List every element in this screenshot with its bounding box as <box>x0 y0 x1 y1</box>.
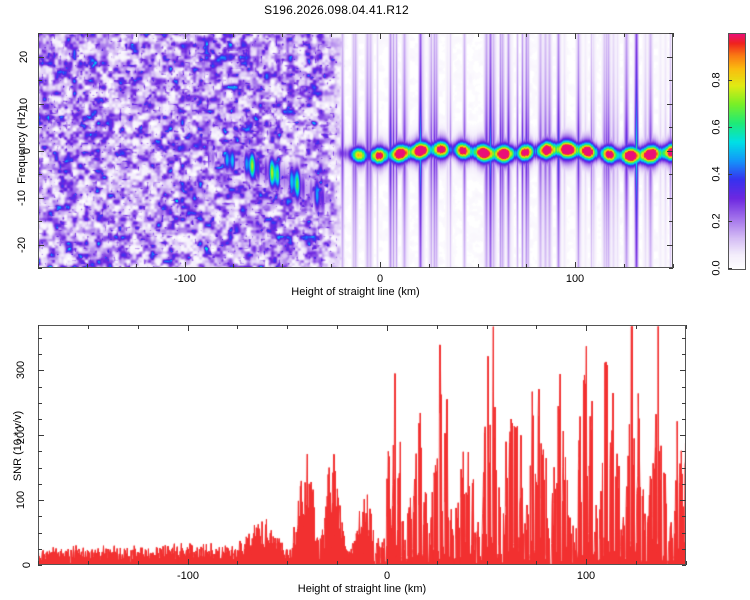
axis-tick <box>87 33 88 37</box>
axis-tick <box>233 264 234 268</box>
x-tick-label: 0 <box>377 273 383 285</box>
y-tick-label: 20 <box>0 51 30 63</box>
axis-tick <box>88 561 89 565</box>
colorbar-gradient <box>728 33 746 270</box>
colorbar-tick <box>728 174 732 175</box>
axis-tick <box>624 264 625 268</box>
colorbar-tick <box>728 268 732 269</box>
axis-tick <box>38 451 42 452</box>
axis-tick <box>429 264 430 268</box>
axis-tick <box>437 325 438 329</box>
x-tick-label: 100 <box>566 273 584 285</box>
axis-tick <box>38 338 42 339</box>
axis-tick <box>38 325 39 329</box>
axis-tick <box>437 561 438 565</box>
axis-tick <box>380 33 381 39</box>
axis-tick <box>478 264 479 268</box>
y-tick-label: 0 <box>0 559 30 571</box>
axis-tick <box>636 325 637 329</box>
axis-tick <box>686 561 687 565</box>
axis-tick <box>38 500 44 501</box>
axis-tick <box>667 245 673 246</box>
axis-tick <box>38 516 42 517</box>
axis-tick <box>586 559 587 565</box>
axis-tick <box>536 325 537 329</box>
axis-tick <box>136 264 137 268</box>
axis-tick <box>682 533 686 534</box>
axis-tick <box>682 468 686 469</box>
axis-tick <box>38 221 42 222</box>
axis-tick <box>487 325 488 329</box>
axis-tick <box>38 80 42 81</box>
axis-tick <box>38 549 42 550</box>
axis-tick <box>669 80 673 81</box>
axis-tick <box>287 561 288 565</box>
axis-tick <box>680 370 686 371</box>
x-tick-label: 100 <box>577 570 595 582</box>
axis-tick <box>380 262 381 268</box>
spectrogram-x-axis-title: Height of straight line (km) <box>38 286 673 298</box>
axis-tick <box>237 325 238 329</box>
axis-tick <box>682 549 686 550</box>
axis-tick <box>667 151 673 152</box>
axis-tick <box>429 33 430 37</box>
axis-tick <box>586 325 587 331</box>
axis-tick <box>38 419 42 420</box>
axis-tick <box>686 325 687 329</box>
axis-tick <box>38 33 42 34</box>
axis-tick <box>669 174 673 175</box>
colorbar-tick-label: 0.6 <box>698 121 724 133</box>
axis-tick <box>526 33 527 37</box>
axis-tick <box>680 435 686 436</box>
axis-tick <box>669 33 673 34</box>
axis-tick <box>682 387 686 388</box>
axis-tick <box>136 33 137 37</box>
axis-tick <box>682 419 686 420</box>
axis-tick <box>575 262 576 268</box>
axis-tick <box>38 151 44 152</box>
x-tick-label: 0 <box>384 570 390 582</box>
spectrogram-panel <box>38 33 673 268</box>
axis-tick <box>673 33 674 37</box>
axis-tick <box>487 561 488 565</box>
axis-tick <box>282 33 283 37</box>
axis-tick <box>682 451 686 452</box>
axis-tick <box>138 325 139 329</box>
snr-panel <box>38 325 686 565</box>
axis-tick <box>38 565 42 566</box>
figure-root: S196.2026.098.04.41.R12 -100010020100-10… <box>0 0 750 600</box>
axis-tick <box>185 33 186 39</box>
axis-tick <box>331 33 332 37</box>
axis-tick <box>337 561 338 565</box>
y-tick-label: 300 <box>0 364 30 376</box>
axis-tick <box>682 484 686 485</box>
snr-canvas <box>38 325 686 565</box>
axis-tick <box>680 500 686 501</box>
axis-tick <box>575 33 576 39</box>
colorbar-tick-label: 0.8 <box>698 74 724 86</box>
axis-tick <box>526 264 527 268</box>
axis-tick <box>331 264 332 268</box>
spectrogram-canvas <box>38 33 673 268</box>
axis-tick <box>624 33 625 37</box>
axis-tick <box>38 435 44 436</box>
axis-tick <box>682 338 686 339</box>
axis-tick <box>185 262 186 268</box>
axis-tick <box>682 403 686 404</box>
colorbar-tick <box>728 127 732 128</box>
axis-tick <box>38 484 42 485</box>
spectrogram-y-axis-title: Frequency (Hz) <box>16 96 28 196</box>
x-tick-label: -100 <box>174 273 196 285</box>
axis-tick <box>669 268 673 269</box>
axis-tick <box>38 127 42 128</box>
axis-tick <box>669 127 673 128</box>
x-tick-label: -100 <box>177 570 199 582</box>
axis-tick <box>138 561 139 565</box>
axis-tick <box>188 559 189 565</box>
axis-tick <box>673 264 674 268</box>
axis-tick <box>38 268 42 269</box>
axis-tick <box>38 104 44 105</box>
axis-tick <box>667 104 673 105</box>
axis-tick <box>636 561 637 565</box>
axis-tick <box>38 468 42 469</box>
colorbar-tick-label: 0.0 <box>698 262 724 274</box>
axis-tick <box>88 325 89 329</box>
axis-tick <box>38 533 42 534</box>
axis-tick <box>87 264 88 268</box>
axis-tick <box>387 325 388 331</box>
page-title: S196.2026.098.04.41.R12 <box>0 3 673 17</box>
axis-tick <box>38 198 44 199</box>
axis-tick <box>337 325 338 329</box>
axis-tick <box>669 221 673 222</box>
axis-tick <box>38 245 44 246</box>
axis-tick <box>188 325 189 331</box>
snr-x-axis-title: Height of straight line (km) <box>38 583 686 595</box>
axis-tick <box>682 565 686 566</box>
axis-tick <box>38 354 42 355</box>
colorbar-tick <box>728 80 732 81</box>
axis-tick <box>536 561 537 565</box>
axis-tick <box>287 325 288 329</box>
y-tick-label: -20 <box>0 239 30 251</box>
axis-tick <box>667 57 673 58</box>
axis-tick <box>682 354 686 355</box>
colorbar-tick-label: 0.2 <box>698 215 724 227</box>
axis-tick <box>237 561 238 565</box>
axis-tick <box>667 198 673 199</box>
colorbar-tick-label: 0.4 <box>698 168 724 180</box>
axis-tick <box>282 264 283 268</box>
axis-tick <box>38 370 44 371</box>
snr-y-axis-title: SNR (10 * v/v) <box>12 386 24 506</box>
colorbar-tick <box>728 221 732 222</box>
axis-tick <box>387 559 388 565</box>
axis-tick <box>38 387 42 388</box>
axis-tick <box>38 403 42 404</box>
axis-tick <box>682 516 686 517</box>
axis-tick <box>38 174 42 175</box>
axis-tick <box>478 33 479 37</box>
axis-tick <box>38 57 44 58</box>
axis-tick <box>233 33 234 37</box>
